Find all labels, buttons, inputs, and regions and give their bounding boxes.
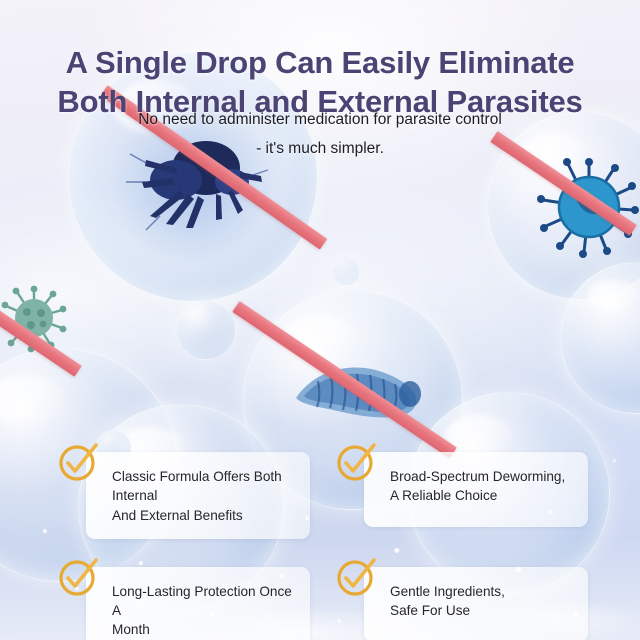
feature-card: Long-Lasting Protection Once A Month [86, 567, 310, 640]
check-circle-icon [56, 555, 100, 599]
water-bubble-small-c [332, 258, 360, 286]
feature-label: Classic Formula Offers Both Internal And… [112, 467, 296, 525]
feature-item-2: Broad-Spectrum Deworming, A Reliable Cho… [334, 452, 588, 539]
feature-list: Classic Formula Offers Both Internal And… [56, 452, 588, 640]
check-circle-icon [56, 440, 100, 484]
feature-card: Classic Formula Offers Both Internal And… [86, 452, 310, 539]
page-subtitle: No need to administer medication for par… [0, 106, 640, 163]
water-bubble-small-a [176, 300, 236, 360]
feature-item-4: Gentle Ingredients, Safe For Use [334, 567, 588, 640]
feature-card: Broad-Spectrum Deworming, A Reliable Cho… [364, 452, 588, 527]
feature-label: Long-Lasting Protection Once A Month [112, 582, 296, 640]
feature-label: Gentle Ingredients, Safe For Use [390, 582, 574, 621]
page-title-line-1: A Single Drop Can Easily Eliminate [14, 43, 626, 82]
feature-label: Broad-Spectrum Deworming, A Reliable Cho… [390, 467, 574, 506]
feature-item-1: Classic Formula Offers Both Internal And… [56, 452, 310, 539]
check-circle-icon [334, 555, 378, 599]
product-feature-banner: A Single Drop Can Easily Eliminate Both … [0, 0, 640, 640]
page-subtitle-line-1: No need to administer medication for par… [0, 106, 640, 135]
feature-item-3: Long-Lasting Protection Once A Month [56, 567, 310, 640]
check-circle-icon [334, 440, 378, 484]
feature-card: Gentle Ingredients, Safe For Use [364, 567, 588, 640]
page-subtitle-line-2: - it's much simpler. [0, 135, 640, 164]
